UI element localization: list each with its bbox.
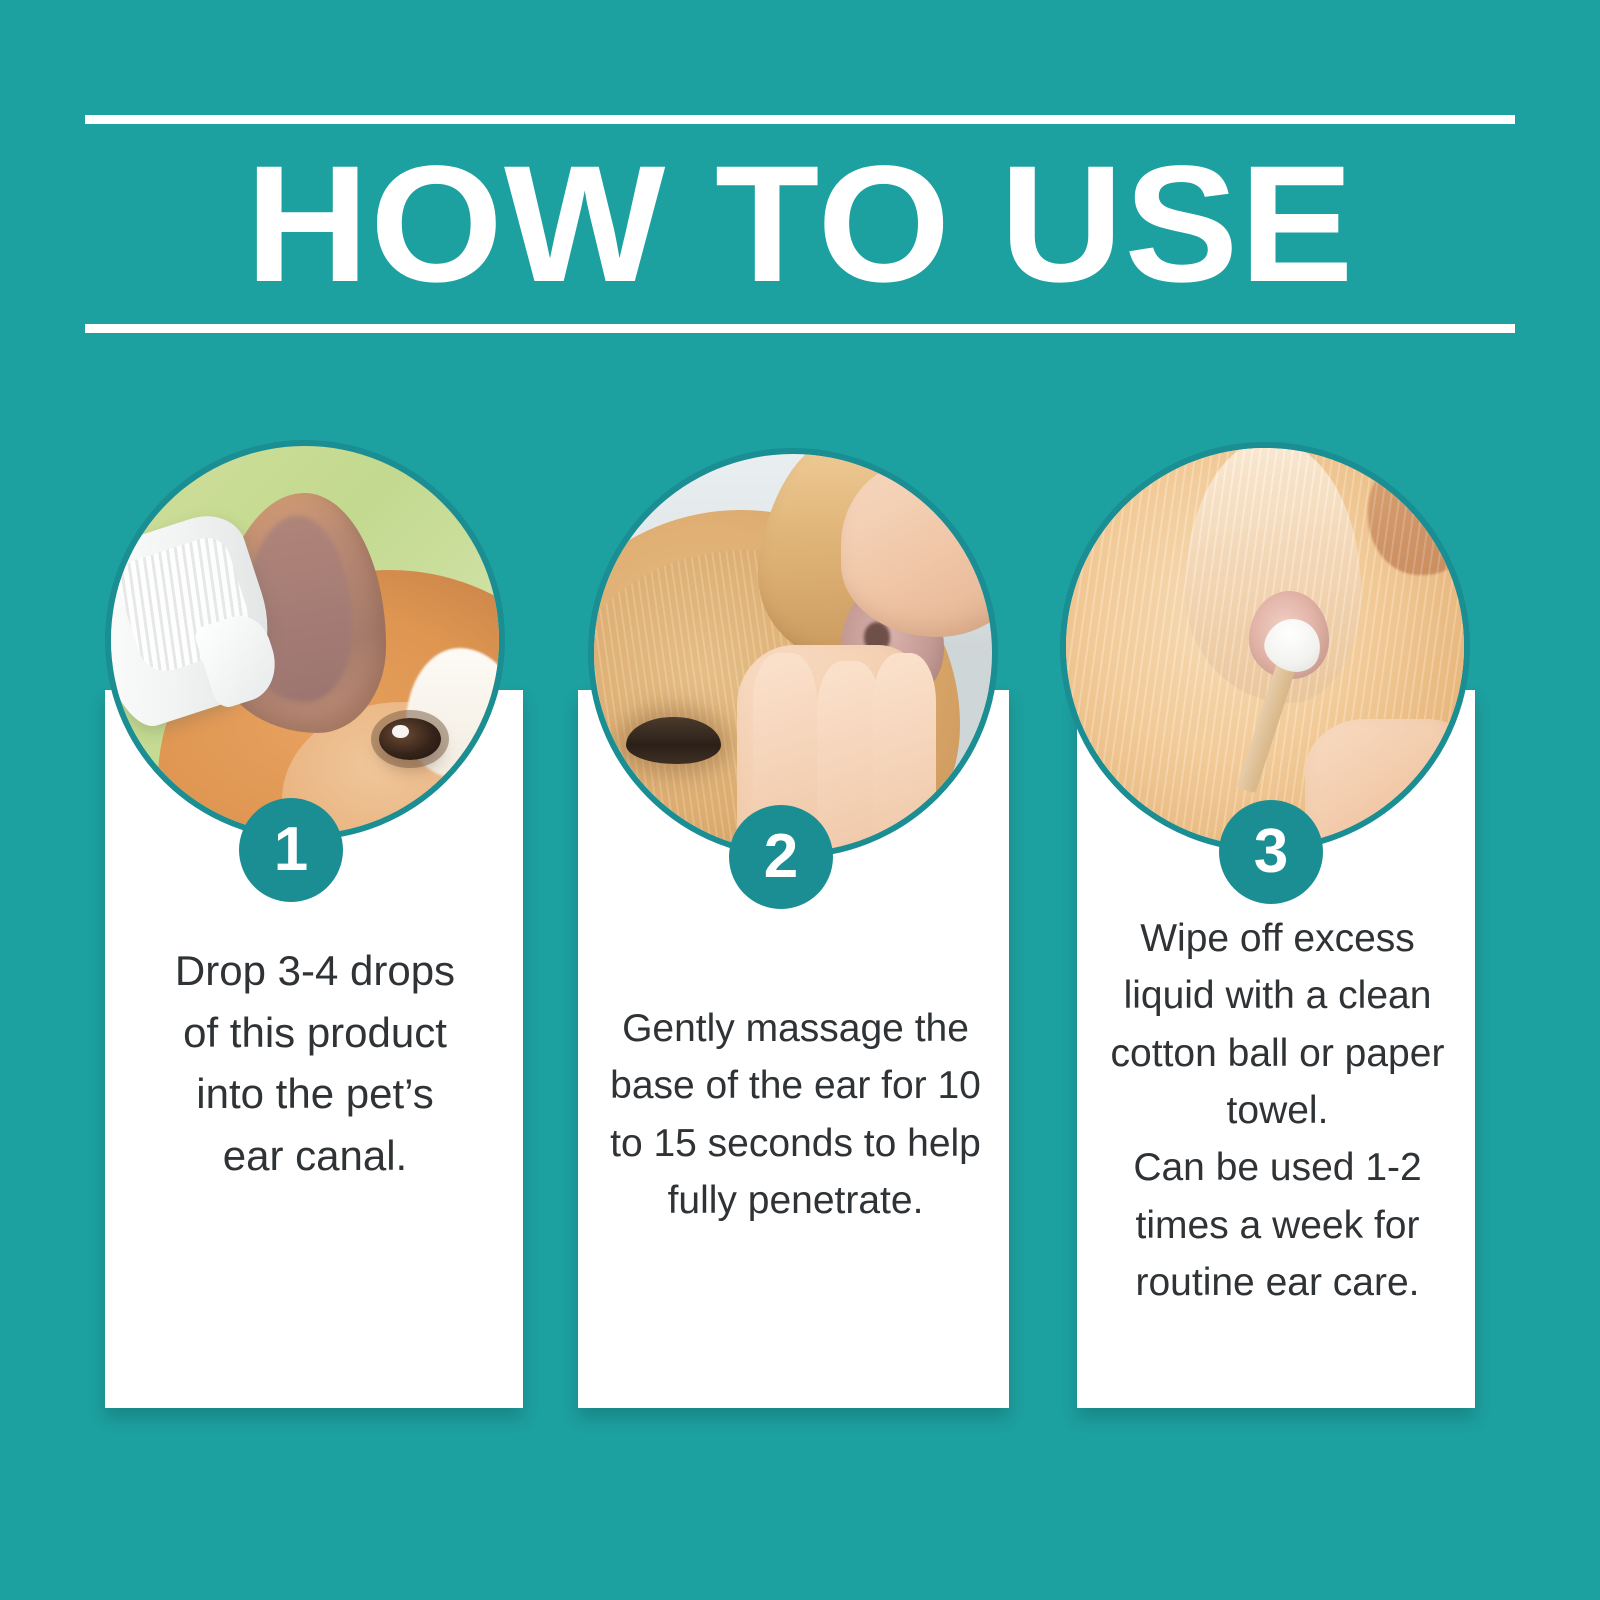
page-title: HOW TO USE [64,124,1537,324]
dropper-bottle-dog-ear-icon [111,446,499,834]
hand-massaging-ear-icon [594,454,992,852]
cotton-swab-ear-icon [1066,448,1464,846]
step-caption-2: Gently massage the base of the ear for 1… [588,1000,1003,1229]
step-badge-1: 1 [239,798,343,902]
step-1-photo [105,440,505,840]
step-badge-2: 2 [729,805,833,909]
title-rule-bottom [85,324,1515,333]
step-caption-3: Wipe off excess liquid with a clean cott… [1085,910,1470,1311]
header: HOW TO USE [85,115,1515,333]
step-3-photo [1060,442,1470,852]
step-2-photo [588,448,998,858]
step-caption-1: Drop 3-4 drops of this product into the … [120,940,510,1187]
steps-container: 1 Drop 3-4 drops of this product into th… [0,420,1600,1430]
step-badge-3: 3 [1219,800,1323,904]
title-rule-top [85,115,1515,124]
